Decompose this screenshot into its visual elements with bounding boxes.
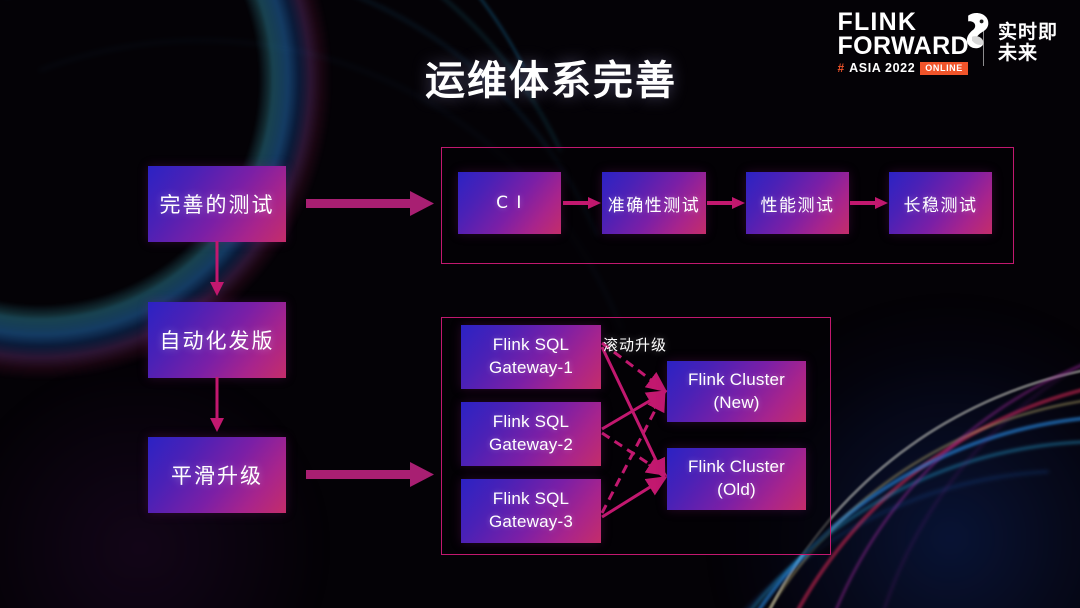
pipeline-step-label: 长稳测试 bbox=[904, 191, 978, 216]
hash-icon: # bbox=[837, 61, 844, 75]
flow-step-label: 平滑升级 bbox=[171, 460, 263, 490]
cluster-node-new[interactable]: Flink Cluster (New) bbox=[667, 361, 806, 422]
page-title: 运维体系完善 bbox=[425, 48, 677, 106]
logo-edition-row: # ASIA 2022 ONLINE bbox=[837, 61, 967, 75]
squirrel-icon bbox=[949, 8, 995, 54]
cluster-label-line2: (New) bbox=[713, 392, 759, 415]
right-arrow-icon bbox=[306, 457, 438, 493]
cluster-label-line2: (Old) bbox=[717, 479, 756, 502]
flow-step-label: 完善的测试 bbox=[160, 189, 275, 219]
gateway-label-line2: Gateway-1 bbox=[489, 357, 573, 380]
slide-root: FLINK FORWARD # ASIA 2022 ONLINE 实时即 未来 … bbox=[0, 0, 1080, 608]
gateway-label-line1: Flink SQL bbox=[493, 411, 569, 434]
flow-step-testing[interactable]: 完善的测试 bbox=[148, 166, 286, 242]
gateway-label-line1: Flink SQL bbox=[493, 488, 569, 511]
cluster-label-line1: Flink Cluster bbox=[688, 369, 785, 392]
logo-edition: ASIA 2022 bbox=[849, 61, 915, 75]
down-arrow-icon bbox=[200, 241, 234, 297]
pipeline-step-label: 性能测试 bbox=[761, 191, 835, 216]
right-arrow-icon bbox=[563, 193, 603, 213]
cluster-node-old[interactable]: Flink Cluster (Old) bbox=[667, 448, 806, 510]
logo-wordmark: FLINK FORWARD # ASIA 2022 ONLINE bbox=[837, 10, 969, 75]
pipeline-step-stability[interactable]: 长稳测试 bbox=[889, 172, 992, 234]
right-arrow-icon bbox=[306, 186, 438, 222]
pipeline-step-label: C I bbox=[496, 193, 523, 213]
pipeline-step-performance[interactable]: 性能测试 bbox=[746, 172, 849, 234]
logo-online-badge: ONLINE bbox=[920, 62, 968, 75]
cluster-label-line1: Flink Cluster bbox=[688, 456, 785, 479]
gateway-node-2[interactable]: Flink SQL Gateway-2 bbox=[461, 402, 601, 466]
logo-chinese-tagline: 实时即 未来 bbox=[998, 22, 1058, 63]
gateway-label-line1: Flink SQL bbox=[493, 334, 569, 357]
flow-step-release[interactable]: 自动化发版 bbox=[148, 302, 286, 378]
gateway-label-line2: Gateway-2 bbox=[489, 434, 573, 457]
right-arrow-icon bbox=[850, 193, 890, 213]
pipeline-step-accuracy[interactable]: 准确性测试 bbox=[602, 172, 706, 234]
logo-line1: FLINK bbox=[837, 10, 917, 34]
gateway-node-3[interactable]: Flink SQL Gateway-3 bbox=[461, 479, 601, 543]
gateway-node-1[interactable]: Flink SQL Gateway-1 bbox=[461, 325, 601, 389]
pipeline-step-ci[interactable]: C I bbox=[458, 172, 561, 234]
flink-forward-logo: FLINK FORWARD # ASIA 2022 ONLINE 实时即 未来 bbox=[837, 10, 1058, 75]
flow-step-upgrade[interactable]: 平滑升级 bbox=[148, 437, 286, 513]
gateway-label-line2: Gateway-3 bbox=[489, 511, 573, 534]
logo-cn-line1: 实时即 bbox=[998, 22, 1058, 43]
pipeline-step-label: 准确性测试 bbox=[608, 191, 701, 216]
flow-step-label: 自动化发版 bbox=[160, 325, 275, 355]
right-arrow-icon bbox=[707, 193, 747, 213]
down-arrow-icon bbox=[200, 377, 234, 433]
logo-cn-line2: 未来 bbox=[998, 43, 1058, 64]
rolling-upgrade-annotation: 滚动升级 bbox=[603, 334, 667, 355]
